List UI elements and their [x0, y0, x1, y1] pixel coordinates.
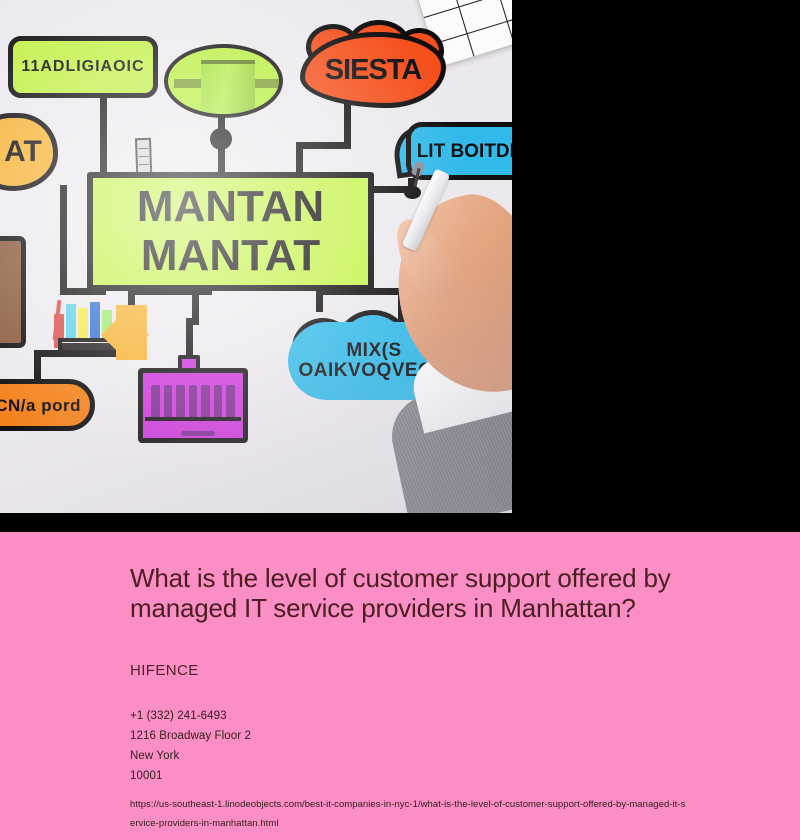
brand-name: HIFENCE — [130, 662, 199, 679]
mindmap-node-ellipse — [164, 44, 283, 118]
page-root: 11ADLIGIAOIC AT SIESTA LIT BOITDR MANTAN — [0, 0, 800, 840]
connector-line — [210, 128, 232, 150]
mindmap-node-topleft: 11ADLIGIAOIC — [8, 36, 158, 98]
mindmap-node-cloud-label-line1: MIX(S — [346, 341, 401, 361]
contact-zip: 10001 — [130, 766, 770, 786]
mindmap-node-siesta-label: SIESTA — [325, 56, 422, 85]
mindmap-node-blue-right-label: LIT BOITDR — [417, 142, 512, 161]
mindmap-node-orange-pill: ICN/a pord — [0, 379, 95, 431]
content-panel: What is the level of customer support of… — [0, 532, 800, 840]
connector-line — [60, 185, 67, 295]
ellipse-bar-vertical — [201, 60, 255, 118]
connector-line — [344, 100, 351, 148]
laptop-screen-rows — [151, 385, 235, 421]
mindmap-node-laptop — [138, 368, 248, 443]
contact-city: New York — [130, 746, 770, 766]
drawn-dot — [404, 186, 421, 199]
mindmap-node-center-label-line1: MANTAN — [137, 185, 324, 229]
mindmap-illustration: 11ADLIGIAOIC AT SIESTA LIT BOITDR MANTAN — [0, 0, 512, 513]
laptop-touchpad — [181, 431, 215, 436]
connector-line — [296, 142, 351, 149]
source-url[interactable]: https://us-southeast-1.linodeobjects.com… — [130, 795, 690, 833]
connector-line — [100, 98, 107, 178]
mindmap-node-orange-pill-label: ICN/a pord — [0, 397, 81, 414]
contact-phone[interactable]: +1 (332) 241-6493 — [130, 706, 770, 726]
contact-block: +1 (332) 241-6493 1216 Broadway Floor 2 … — [130, 706, 770, 786]
page-title: What is the level of customer support of… — [130, 563, 730, 623]
hero-area: 11ADLIGIAOIC AT SIESTA LIT BOITDR MANTAN — [0, 0, 800, 532]
mindmap-node-brown-block — [0, 236, 26, 348]
mindmap-node-topleft-label: 11ADLIGIAOIC — [21, 59, 144, 75]
mindmap-node-center: MANTAN MANTAT — [87, 172, 374, 291]
contact-street: 1216 Broadway Floor 2 — [130, 726, 770, 746]
mindmap-node-center-label-line2: MANTAT — [141, 234, 320, 278]
mindmap-node-at-label: AT — [4, 137, 42, 167]
mindmap-node-at: AT — [0, 113, 58, 191]
